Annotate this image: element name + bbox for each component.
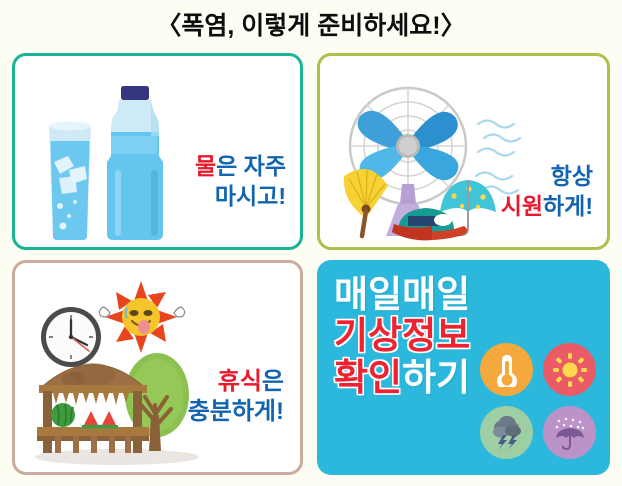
caption-highlight: 휴식 (218, 368, 262, 395)
caption-red: 확인 (334, 357, 402, 398)
rain-umbrella-icon[interactable] (543, 406, 596, 459)
caption-line-1: 매일매일 (334, 274, 470, 315)
caption-highlight: 시원 (501, 193, 543, 219)
caption-plain: 항상 (551, 163, 593, 189)
stay-cool-panel[interactable]: 항상 시원하게! (317, 53, 610, 250)
take-rest-panel[interactable]: 휴식은 충분하게! (12, 260, 303, 475)
caption-line-3: 확인하기 (334, 357, 470, 398)
caption-line-1: 물은 자주 (195, 152, 286, 181)
caption-line-1: 휴식은 (188, 367, 284, 398)
caption-white: 하기 (402, 357, 470, 398)
water-glass-and-bottle-illustration (41, 84, 177, 242)
caption-plain: 마시고! (215, 183, 286, 209)
storm-icon[interactable] (480, 406, 533, 459)
caption-white: 매일매일 (334, 274, 470, 315)
check-weather-panel[interactable]: 매일매일 기상정보 확인하기 (317, 260, 610, 475)
caption-line-2: 충분하게! (188, 397, 284, 428)
caption-highlight: 물 (195, 153, 216, 179)
caption-line-2: 마시고! (195, 182, 286, 211)
caption-plain: 하게! (543, 193, 593, 219)
caption-plain: 충분하게! (188, 398, 284, 425)
weather-icon-group (480, 343, 596, 459)
caption-line-2: 시원하게! (501, 192, 593, 221)
take-rest-caption: 휴식은 충분하게! (188, 367, 284, 428)
sun-icon[interactable] (543, 343, 596, 396)
panel-grid: 물은 자주 마시고! (12, 53, 610, 475)
clock-sun-pavilion-illustration (29, 279, 209, 467)
caption-line-1: 항상 (501, 162, 593, 191)
drink-water-caption: 물은 자주 마시고! (195, 152, 286, 211)
caption-line-2: 기상정보 (334, 315, 470, 356)
stay-cool-caption: 항상 시원하게! (501, 162, 593, 221)
thermometer-icon[interactable] (480, 343, 533, 396)
page-title: 〈폭염, 이렇게 준비하세요!〉 (0, 6, 622, 42)
check-weather-caption: 매일매일 기상정보 확인하기 (334, 274, 470, 398)
caption-plain: 은 (262, 368, 284, 395)
caption-red: 기상정보 (334, 315, 470, 356)
drink-water-panel[interactable]: 물은 자주 마시고! (12, 53, 303, 250)
caption-plain: 은 자주 (216, 153, 286, 179)
